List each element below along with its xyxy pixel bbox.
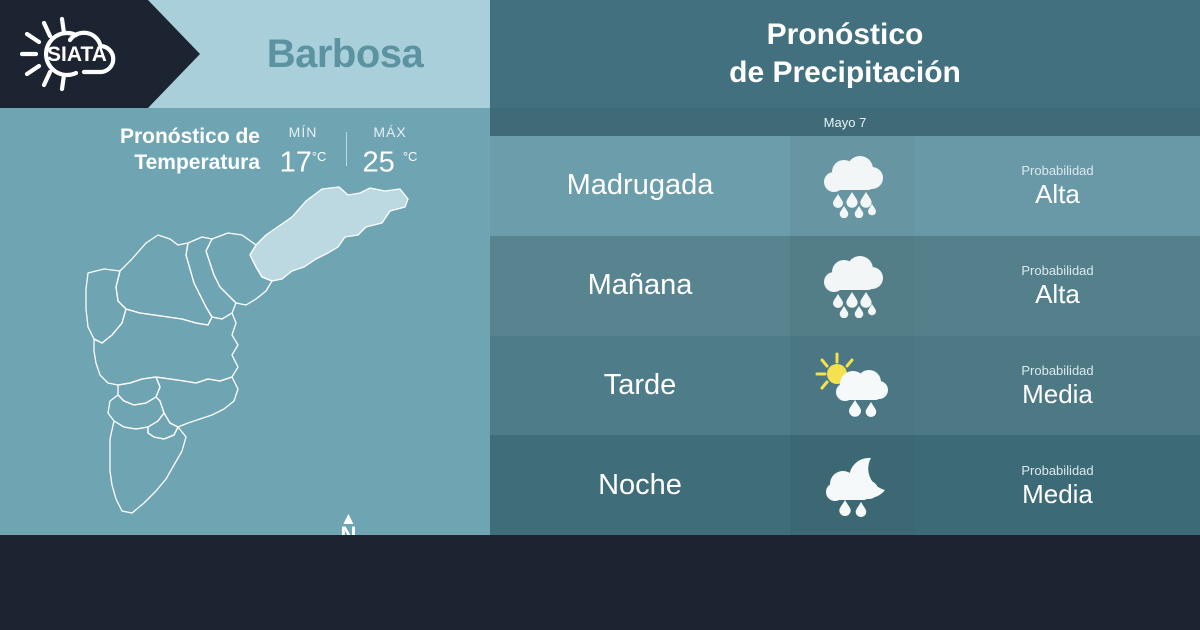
temperature-summary: Pronóstico de Temperatura MÍN 17°C MÁX 2… xyxy=(60,124,420,186)
weather-icon-cell xyxy=(790,236,915,336)
max-value: 25 °C xyxy=(363,141,418,179)
temperature-min: MÍN 17°C xyxy=(272,124,334,179)
period-label: Tarde xyxy=(490,336,790,436)
probability-label: Probabilidad xyxy=(1021,262,1093,279)
max-label: MÁX xyxy=(373,124,406,140)
temperature-max: MÁX 25 °C xyxy=(359,124,421,179)
map-svg xyxy=(60,183,480,533)
min-value: 17°C xyxy=(280,141,327,179)
probability-cell: Probabilidad Media xyxy=(915,336,1200,436)
max-unit: °C xyxy=(403,149,418,164)
temperature-title-line1: Pronóstico de xyxy=(60,124,260,150)
forecast-date: Mayo 7 xyxy=(490,108,1200,136)
rain-cloud-icon xyxy=(814,154,892,218)
precipitation-panel: Pronóstico de Precipitación Mayo 7 Madru… xyxy=(490,0,1200,535)
period-label: Noche xyxy=(490,435,790,535)
min-unit: °C xyxy=(312,149,327,164)
probability-value: Media xyxy=(1022,379,1093,409)
moon-cloud-rain-icon xyxy=(813,452,893,518)
map-region-bello xyxy=(116,235,212,325)
forecast-row: Noche xyxy=(490,435,1200,535)
probability-value: Alta xyxy=(1035,179,1080,209)
weather-forecast-card: SIATA Barbosa Pronóstico de Temperatura … xyxy=(0,0,1200,630)
probability-value: Alta xyxy=(1035,279,1080,309)
precipitation-title-line1: Pronóstico xyxy=(767,16,924,54)
probability-label: Probabilidad xyxy=(1021,162,1093,179)
sun-cloud-rain-icon xyxy=(813,352,893,418)
map-region-la-estrella xyxy=(108,395,164,429)
period-label: Madrugada xyxy=(490,136,790,236)
map-region-west-north xyxy=(86,269,126,343)
probability-label: Probabilidad xyxy=(1021,362,1093,379)
period-label: Mañana xyxy=(490,236,790,336)
aburra-valley-map: ▲ N xyxy=(60,183,480,533)
temperature-divider xyxy=(346,132,347,166)
precipitation-header: Pronóstico de Precipitación xyxy=(490,0,1200,108)
probability-cell: Probabilidad Media xyxy=(915,435,1200,535)
siata-logo-text: SIATA xyxy=(47,43,107,66)
probability-value: Media xyxy=(1022,479,1093,509)
map-region-copacabana xyxy=(186,237,236,319)
rain-cloud-icon xyxy=(814,254,892,318)
forecast-row: Madrugada xyxy=(490,136,1200,236)
map-region-barbosa xyxy=(250,187,408,281)
temperature-title-line2: Temperatura xyxy=(60,150,260,176)
weather-icon-cell xyxy=(790,136,915,236)
probability-cell: Probabilidad Alta xyxy=(915,236,1200,336)
temperature-title: Pronóstico de Temperatura xyxy=(60,124,260,176)
temperature-values: MÍN 17°C MÁX 25 °C xyxy=(272,124,421,179)
sun-cloud-icon: SIATA xyxy=(14,14,144,94)
page-title: Barbosa xyxy=(200,0,490,108)
forecast-row: Mañana xyxy=(490,236,1200,336)
probability-label: Probabilidad xyxy=(1021,462,1093,479)
weather-icon-cell xyxy=(790,435,915,535)
footer: @siatamedellin www.siata.gov.co Con el a… xyxy=(0,535,1200,630)
min-label: MÍN xyxy=(289,124,318,140)
weather-icon-cell xyxy=(790,336,915,436)
probability-cell: Probabilidad Alta xyxy=(915,136,1200,236)
map-region-medellin xyxy=(94,309,238,385)
forecast-rows: Madrugada xyxy=(490,136,1200,535)
map-region-caldas xyxy=(110,421,186,513)
forecast-row: Tarde xyxy=(490,336,1200,436)
temperature-panel: SIATA Barbosa Pronóstico de Temperatura … xyxy=(0,0,490,535)
precipitation-title-line2: de Precipitación xyxy=(729,54,961,92)
